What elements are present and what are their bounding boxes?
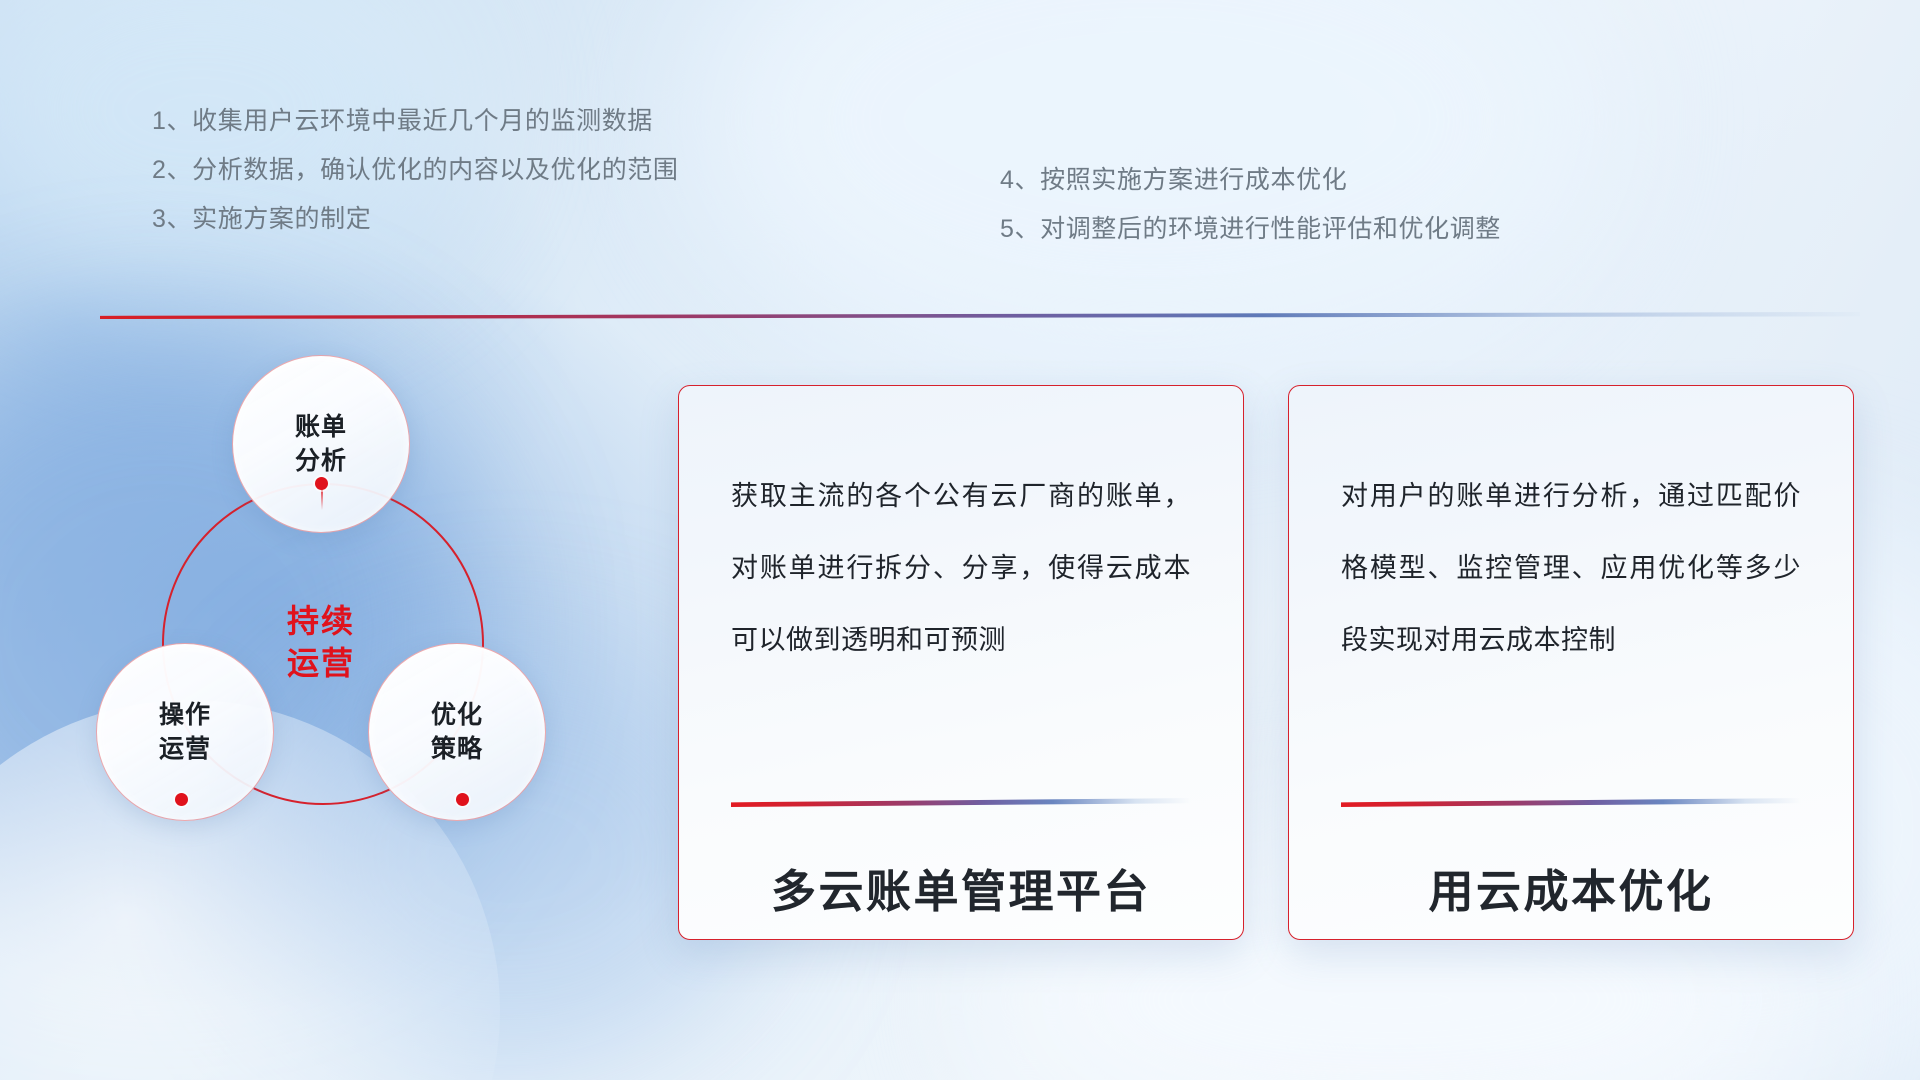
card-body-text: 获取主流的各个公有云厂商的账单，对账单进行拆分、分享，使得云成本可以做到透明和可… bbox=[731, 460, 1191, 686]
continuous-operation-diagram: 持续 运营 账单 分析 操作 运营 优化 策略 bbox=[96, 355, 616, 915]
steps-left-column: 1、收集用户云环境中最近几个月的监测数据 2、分析数据，确认优化的内容以及优化的… bbox=[152, 97, 679, 244]
card-multi-cloud-bill-platform[interactable]: 获取主流的各个公有云厂商的账单，对账单进行拆分、分享，使得云成本可以做到透明和可… bbox=[678, 385, 1244, 940]
slide-canvas: 1、收集用户云环境中最近几个月的监测数据 2、分析数据，确认优化的内容以及优化的… bbox=[0, 0, 1920, 1080]
node-label-line-1: 账单 bbox=[295, 410, 347, 444]
card-divider bbox=[1341, 798, 1801, 807]
step-item-5: 5、对调整后的环境进行性能评估和优化调整 bbox=[1000, 205, 1501, 254]
diagram-dot-top bbox=[315, 477, 328, 490]
step-item-3: 3、实施方案的制定 bbox=[152, 195, 679, 244]
card-cloud-cost-optimization[interactable]: 对用户的账单进行分析，通过匹配价格模型、监控管理、应用优化等多少段实现对用云成本… bbox=[1288, 385, 1854, 940]
center-label-line-2: 运营 bbox=[287, 642, 355, 684]
center-label-line-1: 持续 bbox=[287, 600, 355, 642]
step-item-2: 2、分析数据，确认优化的内容以及优化的范围 bbox=[152, 146, 679, 195]
diagram-center-label: 持续 运营 bbox=[162, 483, 480, 801]
card-title: 多云账单管理平台 bbox=[731, 855, 1191, 920]
section-divider bbox=[100, 312, 1860, 319]
steps-right-column: 4、按照实施方案进行成本优化 5、对调整后的环境进行性能评估和优化调整 bbox=[1000, 156, 1501, 254]
node-label-line-2: 分析 bbox=[295, 444, 347, 478]
step-item-1: 1、收集用户云环境中最近几个月的监测数据 bbox=[152, 97, 679, 146]
card-title: 用云成本优化 bbox=[1341, 855, 1801, 920]
diagram-connector-tick bbox=[321, 488, 323, 510]
step-item-4: 4、按照实施方案进行成本优化 bbox=[1000, 156, 1501, 205]
diagram-dot-bottom-left bbox=[175, 793, 188, 806]
diagram-dot-bottom-right bbox=[456, 793, 469, 806]
card-body-text: 对用户的账单进行分析，通过匹配价格模型、监控管理、应用优化等多少段实现对用云成本… bbox=[1341, 460, 1801, 686]
card-divider bbox=[731, 798, 1191, 807]
